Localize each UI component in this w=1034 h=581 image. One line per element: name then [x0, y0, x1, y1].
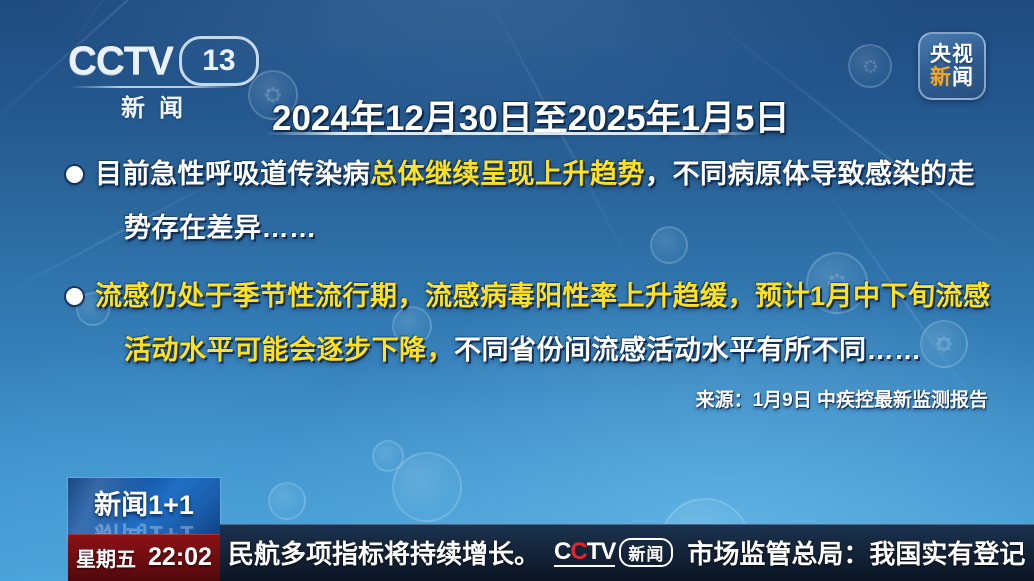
channel-logo: CCTV 13 新闻 [68, 36, 244, 122]
badge-char-xin: 新 [930, 66, 952, 89]
badge-char-wen: 闻 [952, 66, 974, 89]
bullet-line-text: 活动水平可能会逐步下降，不同省份间流感活动水平有所不同…… [95, 326, 922, 374]
clock-time: 22:02 [148, 543, 212, 572]
bullet-segment-highlight: 活动水平可能会逐步下降， [124, 335, 454, 365]
bullet-line-text: 目前急性呼吸道传染病总体继续呈现上升趋势，不同病原体导致感染的走 [95, 150, 975, 198]
program-logo: 新闻1+1 新闻1+1 [68, 478, 220, 540]
bullet-item: 目前急性呼吸道传染病总体继续呈现上升趋势，不同病原体导致感染的走 势存在差异…… [66, 150, 986, 258]
title-underline [268, 132, 758, 135]
cctv-ticker-news-label: 新闻 [619, 538, 673, 567]
bullet-item: 流感仍处于季节性流行期，流感病毒阳性率上升趋缓，预计1月中下旬流感 活动水平可能… [66, 272, 986, 380]
bullet-dot-icon [66, 288, 83, 305]
bullet-line-text: 流感仍处于季节性流行期，流感病毒阳性率上升趋缓，预计1月中下旬流感 [95, 272, 991, 320]
virus-particle [268, 482, 306, 520]
bullet-segment-highlight: 总体继续呈现上升趋势 [370, 159, 645, 189]
cctv-red-c-icon: C [570, 538, 586, 565]
bullet-line: 流感仍处于季节性流行期，流感病毒阳性率上升趋缓，预计1月中下旬流感 [66, 272, 986, 326]
badge-line-1: 央视 [930, 44, 974, 66]
bullet-segment: ，不同病原体导致感染的走 [645, 159, 975, 189]
ticker-headline-1: 民航多项指标将持续增长。 [228, 534, 540, 571]
news-ticker: 民航多项指标将持续增长。 CCTV 新闻 市场监管总局：我国实有登记 [220, 524, 1034, 581]
bullet-line: 目前急性呼吸道传染病总体继续呈现上升趋势，不同病原体导致感染的走 [66, 150, 986, 204]
bullet-segment-highlight: 流感仍处于季节性流行期，流感病毒阳性率上升趋缓，预计1月中下旬流感 [95, 281, 991, 311]
virus-spikes [845, 41, 895, 91]
cctv-wordmark: CCTV [68, 38, 173, 84]
bullet-segment: 不同省份间流感活动水平有所不同…… [454, 335, 922, 365]
bullet-line: 势存在差异…… [66, 204, 986, 258]
clock-bar: 星期五 22:02 [68, 534, 220, 581]
badge-line-2: 新闻 [930, 67, 974, 89]
weekday-label: 星期五 [76, 543, 136, 572]
cctv-news-badge: 央视 新闻 [918, 32, 986, 100]
cctv-news-ticker-logo: CCTV 新闻 [554, 538, 673, 567]
bullet-line-text: 势存在差异…… [95, 204, 317, 252]
channel-logo-underline [70, 86, 238, 88]
bullet-segment: 目前急性呼吸道传染病 [95, 159, 370, 189]
source-credit: 来源：1月9日 中疾控最新监测报告 [696, 385, 988, 412]
bullet-dot-icon [66, 166, 83, 183]
channel-logo-row: CCTV 13 [68, 36, 244, 86]
bullet-segment: 势存在差异…… [124, 213, 317, 243]
cctv-ticker-wordmark: CCTV [554, 539, 615, 567]
broadcast-screen: CCTV 13 新闻 央视 新闻 2024年12月30日至2025年1月5日 目… [0, 0, 1034, 581]
virus-particle [848, 44, 892, 88]
channel-number: 13 [179, 36, 259, 86]
channel-logo-subtitle: 新闻 [68, 88, 236, 123]
virus-particle [392, 452, 462, 522]
program-logo-text: 新闻1+1 [68, 483, 220, 522]
bullet-list: 目前急性呼吸道传染病总体继续呈现上升趋势，不同病原体导致感染的走 势存在差异……… [66, 150, 986, 394]
ticker-content: 民航多项指标将持续增长。 CCTV 新闻 市场监管总局：我国实有登记 [220, 534, 1025, 571]
bullet-line: 活动水平可能会逐步下降，不同省份间流感活动水平有所不同…… [66, 326, 986, 380]
ticker-headline-2: 市场监管总局：我国实有登记 [687, 534, 1025, 571]
